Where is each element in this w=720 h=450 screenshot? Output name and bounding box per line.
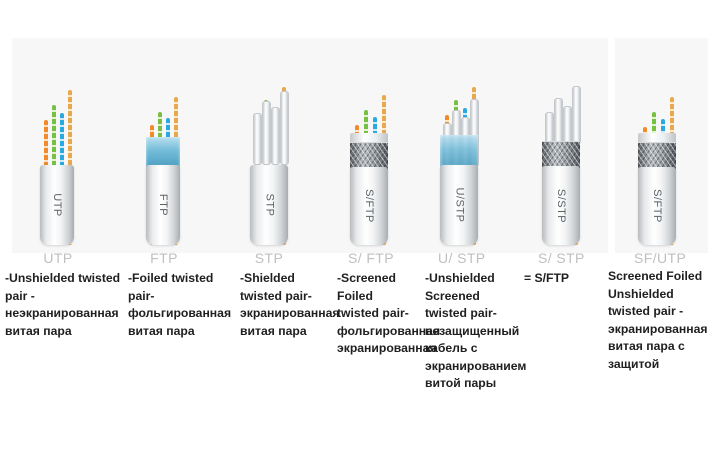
cable-jacket-s-stp: S/STP [542,166,580,245]
cable-jacket-label: STP [263,194,275,217]
column-header-utp: UTP [40,250,76,266]
cable-jacket-label: U/STP [453,188,465,223]
column-description-u-stp: -Unshielded Screened twisted pair-незащи… [425,270,525,393]
column-description-s-ftp: -Screened Foiled twisted pair-фольгирова… [337,270,409,358]
cable-jacket-label: UTP [51,193,63,217]
cable-jacket-ftp: FTP [146,165,180,245]
cable-illustration-u-stp: U/STP [440,45,478,245]
column-header-sf-utp: SF/UTP [634,250,682,266]
foil-shield-layer [146,137,180,167]
cable-illustration-s-stp: S/STP [542,45,580,245]
diagram-canvas: UTP UTP -Unshielded twisted pair - неэкр… [0,0,720,450]
column-description-utp: -Unshielded twisted pair - неэкранирован… [5,270,123,340]
cable-illustration-ftp: FTP [146,45,180,245]
cable-jacket-utp: UTP [40,165,74,245]
cable-jacket-label: S/FTP [363,189,375,223]
cable-jacket-label: S/STP [555,188,567,222]
column-description-ftp: -Foiled twisted pair-фольгированная вита… [128,270,234,340]
cable-illustration-stp: STP [250,45,288,245]
column-header-stp: STP [250,250,288,266]
cable-jacket-s-ftp: S/FTP [350,167,388,245]
braided-mesh-shield [638,142,676,170]
braided-mesh-shield [350,142,388,170]
cable-jacket-label: FTP [157,194,169,216]
pair-shield-sleeve-3 [271,107,280,165]
column-header-ftp: FTP [146,250,182,266]
pair-shield-sleeve-4 [280,91,289,165]
pair-shield-sleeve-1 [253,113,262,165]
cable-illustration-utp: UTP [40,45,74,245]
column-description-s-stp: = S/FTP [524,270,598,288]
column-description-stp: -Shielded twisted pair-экранированная ви… [240,270,332,340]
pair-shield-sleeve-1 [545,112,554,144]
cable-jacket-label: S/FTP [651,189,663,223]
cable-jacket-stp: STP [250,165,288,245]
column-header-s-stp: S/ STP [538,250,582,266]
background-band-main [12,38,608,253]
cable-illustration-sf-utp: S/FTP [638,45,676,245]
pair-shield-sleeve-4 [572,86,581,144]
pair-shield-sleeve-3 [563,106,572,144]
cable-illustration-s-ftp: S/FTP [350,45,388,245]
column-description-sf-utp: Screened Foiled Unshielded twisted pair … [608,268,716,373]
pair-shield-sleeve-2 [262,101,271,165]
cable-jacket-u-stp: U/STP [440,165,478,245]
column-header-s-ftp: S/ FTP [348,250,392,266]
column-header-u-stp: U/ STP [438,250,482,266]
pair-shield-sleeve-2 [554,98,563,144]
cable-jacket-sf-utp: S/FTP [638,167,676,245]
foil-shield-layer [440,135,478,167]
braided-mesh-shield [542,141,580,169]
